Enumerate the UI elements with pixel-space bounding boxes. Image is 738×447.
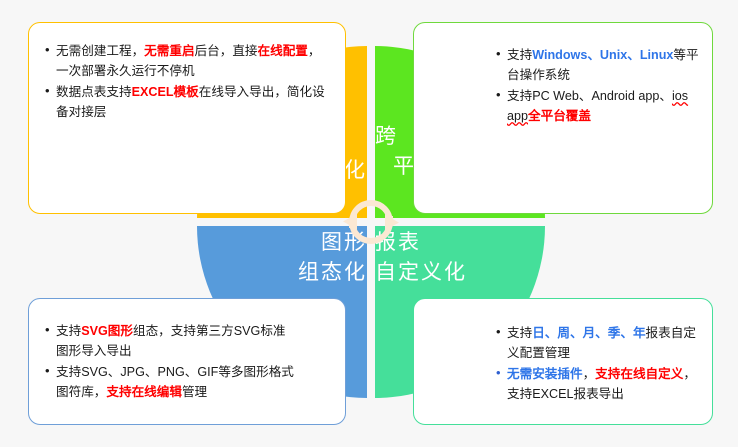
callout-graphics[interactable]: 支持SVG图形组态，支持第三方SVG标准图形导入导出 支持SVG、JPG、PNG… (28, 298, 346, 425)
quadrant-label-graphics-line2: 组态化 (237, 258, 367, 288)
list-item: 数据点表支持EXCEL模板在线导入导出，简化设备对接层 (45, 82, 329, 122)
list-item: 支持日、周、月、季、年报表自定义配置管理 (496, 323, 701, 363)
diagram-canvas: 在线化 跨 平台化 图形 组态化 报表 自定义化 (0, 0, 738, 447)
list-item: 支持SVG、JPG、PNG、GIF等多图形格式图符库，支持在线编辑管理 (45, 362, 295, 402)
quadrant-label-report-line2: 自定义化 (375, 258, 515, 288)
callout-online[interactable]: 无需创建工程，无需重启后台，直接在线配置，一次部署永久运行不停机 数据点表支持E… (28, 22, 346, 214)
list-item: 支持Windows、Unix、Linux等平台操作系统 (496, 45, 701, 85)
list-item: 支持SVG图形组态，支持第三方SVG标准图形导入导出 (45, 321, 295, 361)
callout-graphics-list: 支持SVG图形组态，支持第三方SVG标准图形导入导出 支持SVG、JPG、PNG… (45, 321, 295, 402)
list-item: 无需创建工程，无需重启后台，直接在线配置，一次部署永久运行不停机 (45, 41, 329, 81)
callout-report-list: 支持日、周、月、季、年报表自定义配置管理 无需安装插件，支持在线自定义，支持EX… (496, 323, 701, 404)
callout-cross-platform[interactable]: 支持Windows、Unix、Linux等平台操作系统 支持PC Web、And… (413, 22, 713, 214)
callout-cross-platform-list: 支持Windows、Unix、Linux等平台操作系统 支持PC Web、And… (496, 45, 701, 126)
callout-report[interactable]: 支持日、周、月、季、年报表自定义配置管理 无需安装插件，支持在线自定义，支持EX… (413, 298, 713, 425)
list-item: 支持PC Web、Android app、ios app全平台覆盖 (496, 86, 701, 126)
list-item: 无需安装插件，支持在线自定义，支持EXCEL报表导出 (496, 364, 701, 404)
cycle-arrows-icon (343, 194, 399, 250)
callout-online-list: 无需创建工程，无需重启后台，直接在线配置，一次部署永久运行不停机 数据点表支持E… (45, 41, 329, 122)
